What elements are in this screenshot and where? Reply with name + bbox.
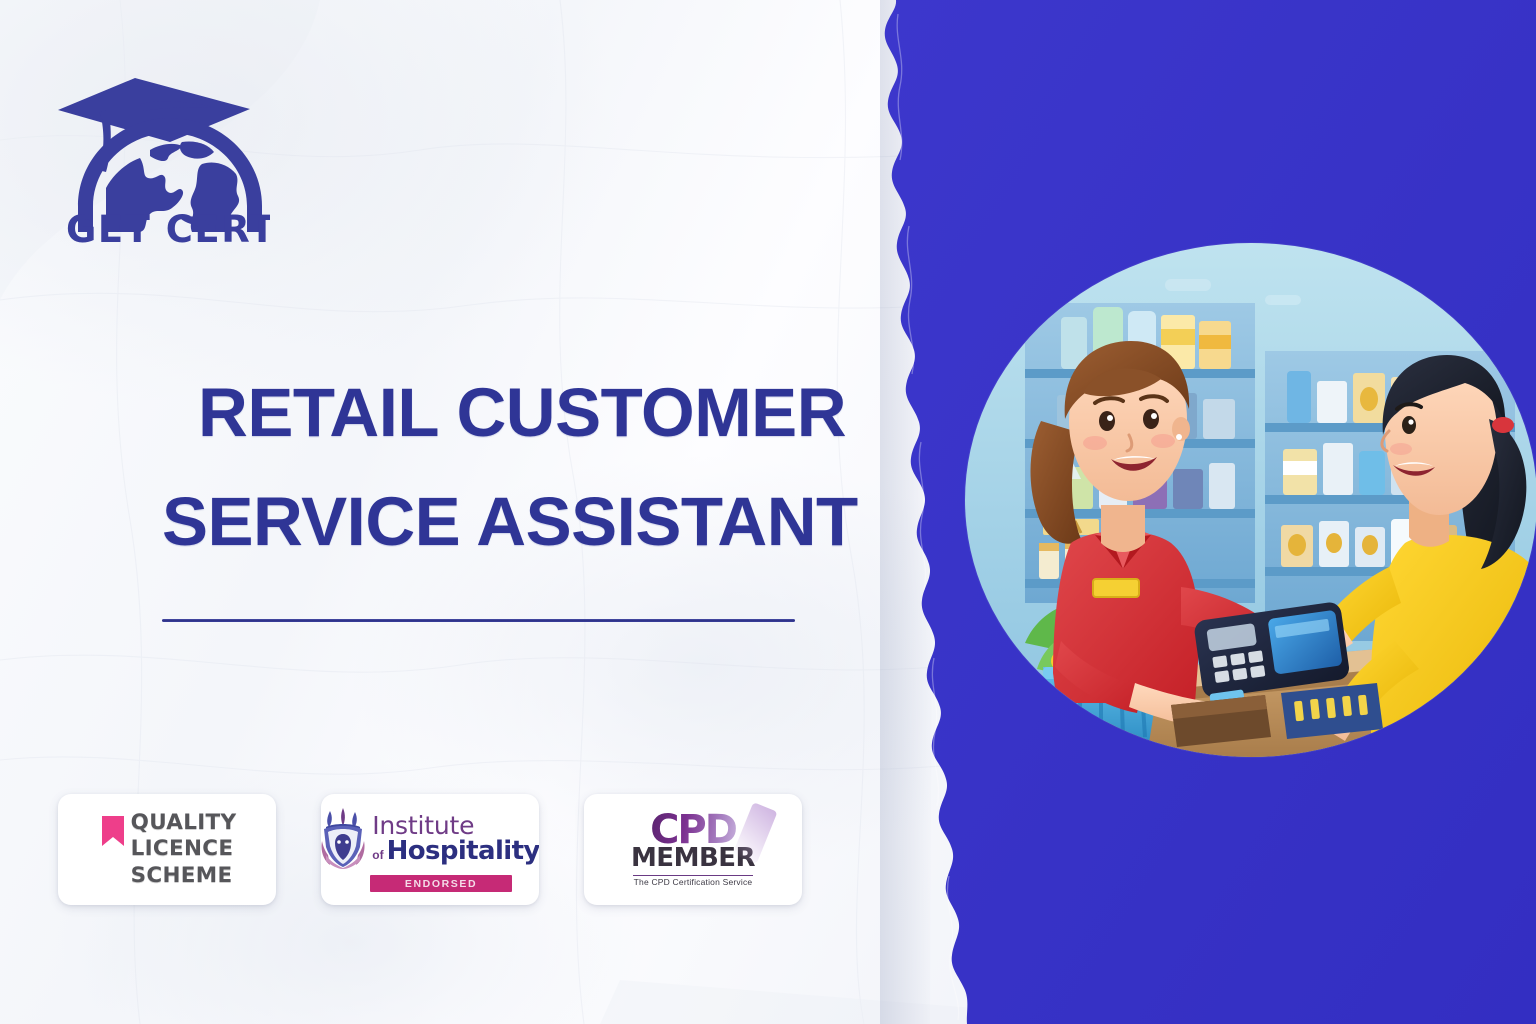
badge-cpd-member[interactable]: CPD MEMBER The CPD Certification Service bbox=[584, 794, 802, 905]
page-title-line-1: RETAIL CUSTOMER bbox=[198, 378, 822, 447]
graduation-cap-globe-icon: GET CERTIFY bbox=[52, 46, 270, 246]
accreditation-badges: QUALITY LICENCE SCHEME bbox=[58, 794, 802, 905]
bookmark-ribbon-icon bbox=[102, 816, 124, 846]
brand-logo[interactable]: GET CERTIFY bbox=[52, 46, 270, 246]
retail-checkout-scene bbox=[965, 243, 1536, 757]
badge-ioh-hospitality: Hospitality bbox=[387, 838, 539, 864]
badge-cpd-subtitle: The CPD Certification Service bbox=[623, 878, 763, 888]
badge-institute-of-hospitality[interactable]: Institute of Hospitality ENDORSED bbox=[321, 794, 539, 905]
badge-ioh-endorsed-ribbon: ENDORSED bbox=[370, 875, 512, 892]
badge-ioh-institute: Institute bbox=[372, 813, 539, 838]
title-divider bbox=[162, 619, 795, 622]
heraldic-crest-icon bbox=[321, 807, 366, 869]
badge-qls-line-3: SCHEME bbox=[131, 863, 237, 889]
poster-canvas: GET CERTIFY RETAIL CUSTOMER SERVICE ASSI… bbox=[0, 0, 1536, 1024]
badge-qls-line-2: LICENCE bbox=[131, 836, 237, 862]
cpd-light-streak-icon bbox=[732, 802, 777, 864]
badge-qls-line-1: QUALITY bbox=[131, 810, 237, 836]
page-title: RETAIL CUSTOMER SERVICE ASSISTANT bbox=[162, 378, 822, 556]
page-title-line-2: SERVICE ASSISTANT bbox=[162, 487, 822, 556]
badge-quality-licence-scheme[interactable]: QUALITY LICENCE SCHEME bbox=[58, 794, 276, 905]
badge-ioh-of: of bbox=[372, 849, 383, 861]
retail-checkout-illustration bbox=[965, 243, 1536, 757]
logo-wordmark: GET CERTIFY bbox=[66, 208, 270, 246]
badge-cpd-rule bbox=[633, 875, 753, 877]
